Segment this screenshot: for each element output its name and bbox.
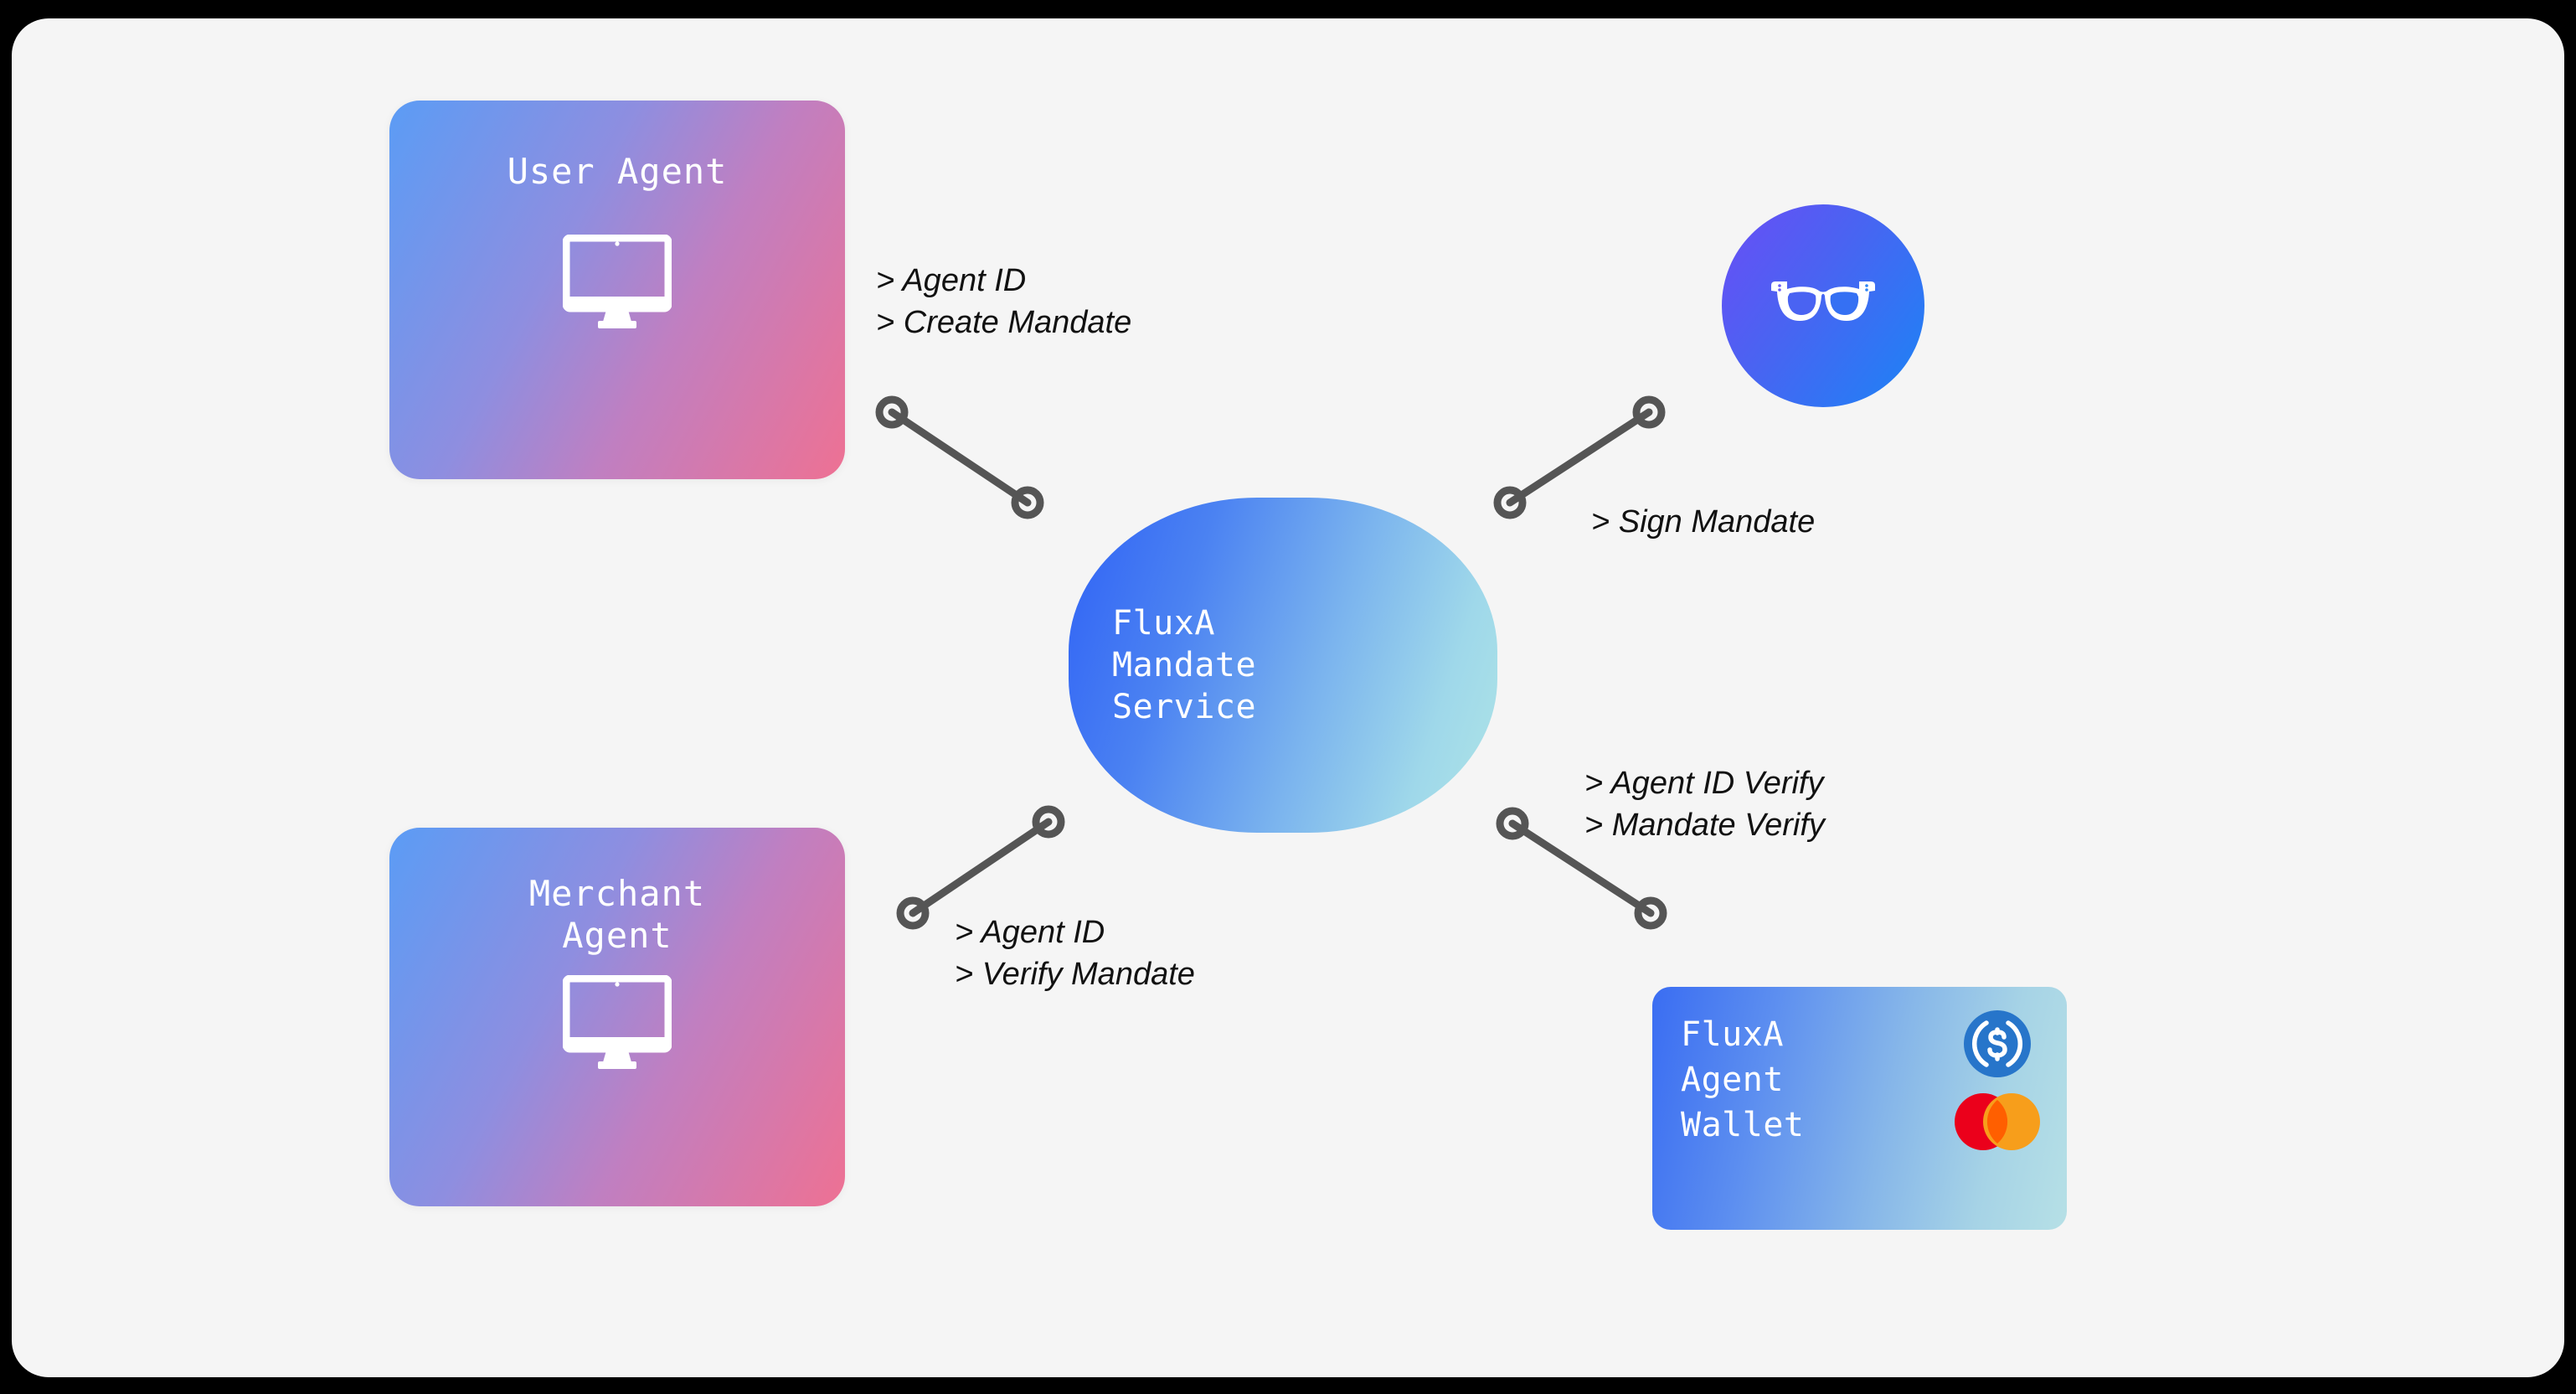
flow-label-service-to-wallet: > Agent ID Verify > Mandate Verify bbox=[1584, 762, 1825, 846]
wallet-logo-group bbox=[1951, 1010, 2043, 1151]
mastercard-logo bbox=[1951, 1092, 2043, 1151]
flow-line: > Sign Mandate bbox=[1591, 501, 1815, 543]
flow-line: > Mandate Verify bbox=[1584, 804, 1825, 846]
connector-merchant-to-service bbox=[900, 809, 1061, 926]
node-signer[interactable] bbox=[1722, 204, 1924, 407]
node-agent-wallet[interactable]: FluxA Agent Wallet bbox=[1652, 987, 2067, 1230]
node-user-agent[interactable]: User Agent bbox=[389, 101, 845, 479]
flow-label-service-to-signer: > Sign Mandate bbox=[1591, 501, 1815, 543]
merchant-agent-title: Merchant Agent bbox=[529, 873, 705, 957]
desktop-monitor-icon bbox=[563, 235, 672, 328]
flow-label-user-to-service: > Agent ID > Create Mandate bbox=[876, 260, 1131, 343]
flow-line: > Create Mandate bbox=[876, 302, 1131, 343]
diagram-frame: User Agent Merchant Agent FluxA Mandat bbox=[0, 0, 2576, 1394]
desktop-monitor-icon bbox=[563, 975, 672, 1069]
node-merchant-agent[interactable]: Merchant Agent bbox=[389, 828, 845, 1206]
flow-line: > Agent ID bbox=[876, 260, 1131, 302]
connector-service-to-signer bbox=[1497, 400, 1662, 515]
node-mandate-service[interactable]: FluxA Mandate Service bbox=[1069, 498, 1497, 833]
eyeglasses-icon bbox=[1767, 279, 1879, 333]
connector-user-to-service bbox=[879, 400, 1040, 515]
flow-line: > Agent ID bbox=[955, 911, 1195, 953]
flow-line: > Agent ID Verify bbox=[1584, 762, 1825, 804]
diagram-canvas: User Agent Merchant Agent FluxA Mandat bbox=[12, 18, 2564, 1377]
mandate-service-title: FluxA Mandate Service bbox=[1112, 602, 1256, 728]
user-agent-title: User Agent bbox=[507, 151, 728, 193]
usdc-logo bbox=[1964, 1010, 2031, 1077]
flow-label-merchant-to-service: > Agent ID > Verify Mandate bbox=[955, 911, 1195, 995]
flow-line: > Verify Mandate bbox=[955, 953, 1195, 995]
